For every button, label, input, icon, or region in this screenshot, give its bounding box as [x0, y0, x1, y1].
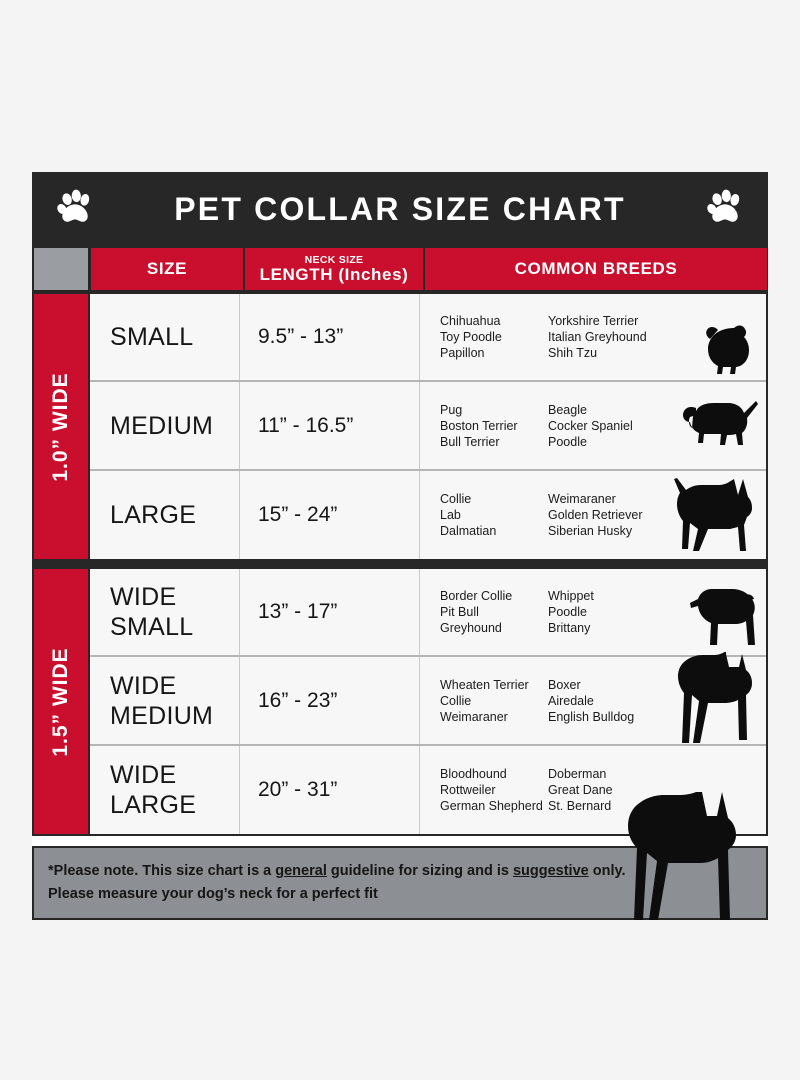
breed-item: Airedale	[548, 693, 676, 709]
breed-item: Yorkshire Terrier	[548, 313, 676, 329]
size-group-1-0-wide: 1.0” WIDE SMALL 9.5” - 13” Chihuahua Toy…	[32, 292, 768, 561]
cell-breeds: Chihuahua Toy Poodle Papillon Yorkshire …	[420, 294, 766, 380]
size-label-line: MEDIUM	[110, 701, 239, 731]
size-label-line: SMALL	[110, 322, 239, 352]
bulldog-silhouette-icon	[688, 581, 760, 653]
breed-item: Cocker Spaniel	[548, 418, 676, 434]
group-rows: WIDE SMALL 13” - 17” Border Collie Pit B…	[90, 569, 766, 834]
cell-length: 11” - 16.5”	[240, 382, 420, 469]
breed-item: Whippet	[548, 588, 676, 604]
pet-collar-size-chart: PET COLLAR SIZE CHART SIZE NECK SIZE LEN…	[32, 172, 768, 920]
breed-item: Poodle	[548, 434, 676, 450]
breed-column-1: Wheaten Terrier Collie Weimaraner	[440, 677, 548, 725]
breed-item: Pug	[440, 402, 548, 418]
cell-length: 9.5” - 13”	[240, 294, 420, 380]
breed-item: Bloodhound	[440, 766, 548, 782]
breed-item: Golden Retriever	[548, 507, 676, 523]
breed-item: Border Collie	[440, 588, 548, 604]
page-title: PET COLLAR SIZE CHART	[174, 191, 626, 228]
breed-item: Weimaraner	[548, 491, 676, 507]
size-group-1-5-wide: 1.5” WIDE WIDE SMALL 13” - 17” Border Co…	[32, 567, 768, 836]
breed-item: English Bulldog	[548, 709, 676, 725]
breed-item: Italian Greyhound	[548, 329, 676, 345]
breed-column-1: Bloodhound Rottweiler German Shepherd	[440, 766, 548, 814]
size-label-line: LARGE	[110, 500, 239, 530]
breed-item: Siberian Husky	[548, 523, 676, 539]
footer-underline-suggestive: suggestive	[513, 863, 589, 879]
breed-column-1: Collie Lab Dalmatian	[440, 491, 548, 539]
breed-item: Wheaten Terrier	[440, 677, 548, 693]
header-corner-blank	[34, 248, 88, 290]
cell-size: WIDE MEDIUM	[90, 657, 240, 744]
size-label-line: SMALL	[110, 612, 239, 642]
boxer-dog-silhouette-icon	[672, 652, 758, 744]
cell-breeds: Wheaten Terrier Collie Weimaraner Boxer …	[420, 657, 766, 744]
cell-length: 16” - 23”	[240, 657, 420, 744]
column-header-length: NECK SIZE LENGTH (Inches)	[245, 248, 423, 290]
cell-breeds: Bloodhound Rottweiler German Shepherd Do…	[420, 746, 766, 834]
column-header-length-main: LENGTH (Inches)	[260, 266, 409, 284]
group-side-label-text: 1.5” WIDE	[49, 647, 73, 756]
breed-item: Papillon	[440, 345, 548, 361]
group-side-label-text: 1.0” WIDE	[49, 372, 73, 481]
cell-size: MEDIUM	[90, 382, 240, 469]
breed-item: Shih Tzu	[548, 345, 676, 361]
breed-item: Greyhound	[440, 620, 548, 636]
cell-length: 13” - 17”	[240, 569, 420, 655]
cell-size: WIDE SMALL	[90, 569, 240, 655]
breed-column-1: Chihuahua Toy Poodle Papillon	[440, 313, 548, 361]
beagle-dog-silhouette-icon	[676, 395, 760, 455]
footer-text-b: guideline for sizing and is	[327, 863, 513, 879]
group-rows: SMALL 9.5” - 13” Chihuahua Toy Poodle Pa…	[90, 294, 766, 559]
table-row: LARGE 15” - 24” Collie Lab Dalmatian Wei…	[90, 469, 766, 559]
cell-size: SMALL	[90, 294, 240, 380]
footer-text-c: only.	[589, 863, 626, 879]
breed-item: Rottweiler	[440, 782, 548, 798]
paw-print-icon	[704, 188, 746, 230]
table-body: 1.0” WIDE SMALL 9.5” - 13” Chihuahua Toy…	[32, 292, 768, 836]
table-row: SMALL 9.5” - 13” Chihuahua Toy Poodle Pa…	[90, 294, 766, 380]
breed-column-2: Whippet Poodle Brittany	[548, 588, 676, 636]
shepherd-dog-silhouette-icon	[668, 475, 760, 557]
breed-item: Boxer	[548, 677, 676, 693]
size-label-line: WIDE	[110, 760, 239, 790]
footer-note: *Please note. This size chart is a gener…	[32, 846, 768, 920]
footer-line-2: Please measure your dog’s neck for a per…	[48, 883, 750, 906]
cell-breeds: Collie Lab Dalmatian Weimaraner Golden R…	[420, 471, 766, 559]
chart-title-band: PET COLLAR SIZE CHART	[32, 172, 768, 246]
breed-column-2: Weimaraner Golden Retriever Siberian Hus…	[548, 491, 676, 539]
cell-size: LARGE	[90, 471, 240, 559]
breed-item: German Shepherd	[440, 798, 548, 814]
breed-item: Bull Terrier	[440, 434, 548, 450]
breed-item: Collie	[440, 693, 548, 709]
cell-size: WIDE LARGE	[90, 746, 240, 834]
table-row: WIDE SMALL 13” - 17” Border Collie Pit B…	[90, 569, 766, 655]
breed-item: Collie	[440, 491, 548, 507]
footer-line-1: *Please note. This size chart is a gener…	[48, 860, 750, 883]
breed-item: Weimaraner	[440, 709, 548, 725]
small-fluffy-dog-silhouette-icon	[696, 318, 760, 378]
size-label-line: LARGE	[110, 790, 239, 820]
size-label-line: WIDE	[110, 671, 239, 701]
size-label-line: MEDIUM	[110, 411, 239, 441]
table-row: MEDIUM 11” - 16.5” Pug Boston Terrier Bu…	[90, 380, 766, 469]
table-row: WIDE LARGE 20” - 31” Bloodhound Rottweil…	[90, 744, 766, 834]
breed-item: Chihuahua	[440, 313, 548, 329]
breed-item: Brittany	[548, 620, 676, 636]
breed-item: Beagle	[548, 402, 676, 418]
breed-column-2: Yorkshire Terrier Italian Greyhound Shih…	[548, 313, 676, 361]
cell-length: 20” - 31”	[240, 746, 420, 834]
breed-item: Toy Poodle	[440, 329, 548, 345]
breed-item: Great Dane	[548, 782, 676, 798]
column-header-size: SIZE	[91, 248, 243, 290]
breed-column-1: Pug Boston Terrier Bull Terrier	[440, 402, 548, 450]
breed-column-2: Beagle Cocker Spaniel Poodle	[548, 402, 676, 450]
breed-item: Pit Bull	[440, 604, 548, 620]
paw-print-icon	[54, 188, 96, 230]
footer-text-a: *Please note. This size chart is a	[48, 863, 275, 879]
breed-item: Lab	[440, 507, 548, 523]
cell-breeds: Border Collie Pit Bull Greyhound Whippet…	[420, 569, 766, 655]
breed-item: St. Bernard	[548, 798, 676, 814]
group-side-label-1-0-wide: 1.0” WIDE	[34, 294, 88, 559]
breed-column-2: Doberman Great Dane St. Bernard	[548, 766, 676, 814]
breed-item: Boston Terrier	[440, 418, 548, 434]
breed-item: Poodle	[548, 604, 676, 620]
breed-item: Doberman	[548, 766, 676, 782]
cell-breeds: Pug Boston Terrier Bull Terrier Beagle C…	[420, 382, 766, 469]
table-header-row: SIZE NECK SIZE LENGTH (Inches) COMMON BR…	[32, 246, 768, 292]
column-header-breeds: COMMON BREEDS	[425, 248, 767, 290]
footer-underline-general: general	[275, 863, 327, 879]
breed-column-1: Border Collie Pit Bull Greyhound	[440, 588, 548, 636]
page-root: PET COLLAR SIZE CHART SIZE NECK SIZE LEN…	[0, 0, 800, 1080]
breed-column-2: Boxer Airedale English Bulldog	[548, 677, 676, 725]
table-row: WIDE MEDIUM 16” - 23” Wheaten Terrier Co…	[90, 655, 766, 744]
column-header-length-sup: NECK SIZE	[305, 255, 364, 266]
group-side-label-1-5-wide: 1.5” WIDE	[34, 569, 88, 834]
cell-length: 15” - 24”	[240, 471, 420, 559]
size-label-line: WIDE	[110, 582, 239, 612]
breed-item: Dalmatian	[440, 523, 548, 539]
